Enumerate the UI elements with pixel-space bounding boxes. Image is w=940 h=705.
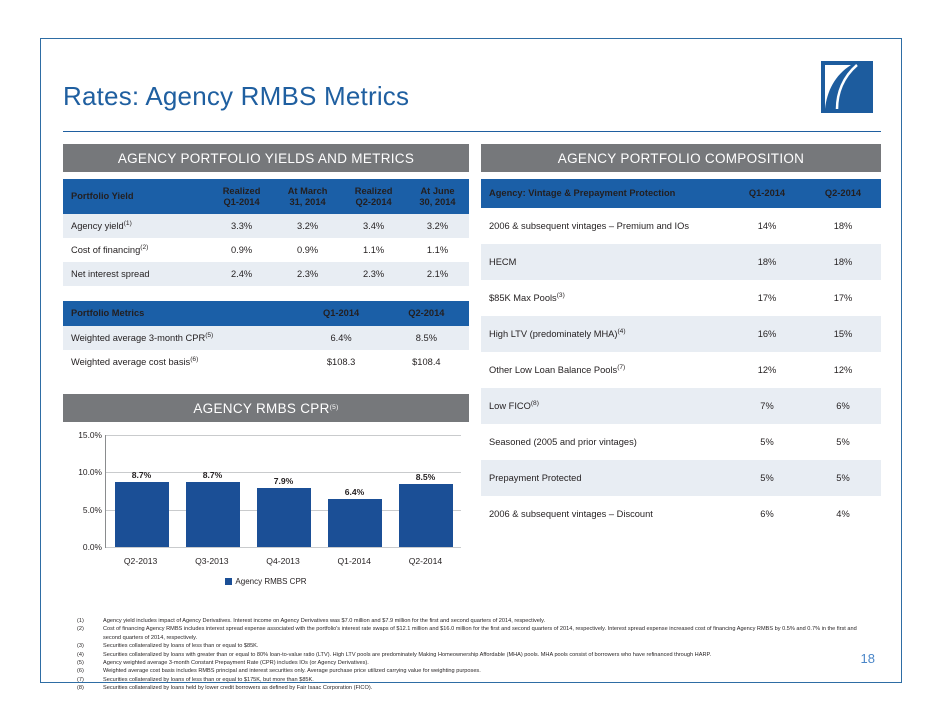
cell-value: 6% — [729, 496, 805, 532]
footnote-item: (2)Cost of financing Agency RMBS include… — [77, 625, 867, 642]
table-row: Net interest spread 2.4% 2.3% 2.3% 2.1% — [63, 262, 469, 286]
logo-swoosh-icon — [821, 61, 873, 113]
page-title: Rates: Agency RMBS Metrics — [63, 81, 409, 112]
y-tick-label: 15.0% — [78, 430, 102, 440]
cell-value: 15% — [805, 316, 881, 352]
col-q1-2014: Q1-2014 — [298, 301, 383, 326]
x-tick-label: Q4-2013 — [247, 556, 318, 566]
company-logo — [821, 61, 873, 113]
legend-swatch-icon — [225, 578, 232, 585]
section-header-cpr: AGENCY RMBS CPR(5) — [63, 394, 469, 422]
composition-table: Agency: Vintage & Prepayment Protection … — [481, 179, 881, 532]
chart-legend: Agency RMBS CPR — [63, 577, 469, 586]
row-label: Weighted average 3-month CPR(5) — [63, 326, 298, 350]
footnote-text: Securities collateralized by loans held … — [103, 684, 867, 692]
cell-value: 5% — [729, 460, 805, 496]
table-row: Weighted average 3-month CPR(5) 6.4% 8.5… — [63, 326, 469, 350]
cell-value: 5% — [805, 424, 881, 460]
table-row: Low FICO(8) 7% 6% — [481, 388, 881, 424]
yields-table-container: Portfolio Yield Realized Q1-2014 At Marc… — [63, 179, 469, 286]
cell-value: $108.3 — [298, 350, 383, 374]
bar: 8.7% — [186, 482, 240, 547]
table-row: High LTV (predominately MHA)(4) 16% 15% — [481, 316, 881, 352]
cell-value: 4% — [805, 496, 881, 532]
x-tick-label: Q3-2013 — [176, 556, 247, 566]
section-header-composition: AGENCY PORTFOLIO COMPOSITION — [481, 144, 881, 172]
cell-value: 5% — [729, 424, 805, 460]
col-q1-2014: Q1-2014 — [729, 179, 805, 208]
y-tick-label: 10.0% — [78, 467, 102, 477]
cell-value: 0.9% — [274, 238, 341, 262]
x-tick-label: Q2-2014 — [390, 556, 461, 566]
x-tick-label: Q2-2013 — [105, 556, 176, 566]
y-tick-label: 0.0% — [83, 542, 102, 552]
footnote-item: (6)Weighted average cost basis includes … — [77, 667, 867, 675]
table-row: 2006 & subsequent vintages – Premium and… — [481, 208, 881, 244]
bar-value-label: 6.4% — [345, 487, 365, 497]
row-label: Cost of financing(2) — [63, 238, 209, 262]
footnote-item: (3)Securities collateralized by loans of… — [77, 642, 867, 650]
table-row: Seasoned (2005 and prior vintages) 5% 5% — [481, 424, 881, 460]
row-label: 2006 & subsequent vintages – Discount — [481, 496, 729, 532]
title-divider — [63, 131, 881, 132]
cell-value: 5% — [805, 460, 881, 496]
row-label: Net interest spread — [63, 262, 209, 286]
row-label: Agency yield(1) — [63, 214, 209, 238]
cell-value: 12% — [805, 352, 881, 388]
col-q2-2014: Q2-2014 — [805, 179, 881, 208]
cell-value: 3.3% — [209, 214, 274, 238]
footnote-text: Agency weighted average 3-month Constant… — [103, 659, 867, 667]
footnote-text: Weighted average cost basis includes RMB… — [103, 667, 867, 675]
footnote-item: (1)Agency yield includes impact of Agenc… — [77, 617, 867, 625]
cell-value: 14% — [729, 208, 805, 244]
cell-value: 17% — [729, 280, 805, 316]
gridline: 0.0% — [106, 547, 461, 548]
cell-value: 16% — [729, 316, 805, 352]
footnote-item: (7)Securities collateralized by loans of… — [77, 676, 867, 684]
cell-value: 2.1% — [406, 262, 469, 286]
bar-value-label: 8.5% — [416, 472, 436, 482]
bar-group: 8.7% — [177, 435, 248, 547]
footnote-number: (7) — [77, 676, 103, 684]
y-tick-label: 5.0% — [83, 505, 102, 515]
cell-value: 18% — [729, 244, 805, 280]
col-at-march: At March 31, 2014 — [274, 179, 341, 214]
cell-value: 1.1% — [341, 238, 406, 262]
table-header-row: Portfolio Yield Realized Q1-2014 At Marc… — [63, 179, 469, 214]
footnote-number: (4) — [77, 651, 103, 659]
bar-group: 8.5% — [390, 435, 461, 547]
row-label: Weighted average cost basis(6) — [63, 350, 298, 374]
cell-value: 18% — [805, 244, 881, 280]
bar: 6.4% — [328, 499, 382, 547]
footnote-number: (2) — [77, 625, 103, 642]
table-row: Other Low Loan Balance Pools(7) 12% 12% — [481, 352, 881, 388]
cell-value: 2.4% — [209, 262, 274, 286]
footnote-number: (6) — [77, 667, 103, 675]
cell-value: 6% — [805, 388, 881, 424]
table-row: Prepayment Protected 5% 5% — [481, 460, 881, 496]
cell-value: 12% — [729, 352, 805, 388]
bar-group: 7.9% — [248, 435, 319, 547]
table-row: Agency yield(1) 3.3% 3.2% 3.4% 3.2% — [63, 214, 469, 238]
cell-value: 3.4% — [341, 214, 406, 238]
footnote-number: (8) — [77, 684, 103, 692]
footnote-text: Securities collateralized by loans of le… — [103, 676, 867, 684]
cell-value: 3.2% — [274, 214, 341, 238]
row-label: 2006 & subsequent vintages – Premium and… — [481, 208, 729, 244]
portfolio-metrics-table: Portfolio Metrics Q1-2014 Q2-2014 Weight… — [63, 301, 469, 374]
row-label: Other Low Loan Balance Pools(7) — [481, 352, 729, 388]
table-header-row: Agency: Vintage & Prepayment Protection … — [481, 179, 881, 208]
legend-label: Agency RMBS CPR — [235, 577, 306, 586]
bar: 8.7% — [115, 482, 169, 547]
col-vintage-prepay: Agency: Vintage & Prepayment Protection — [481, 179, 729, 208]
col-portfolio-metrics: Portfolio Metrics — [63, 301, 298, 326]
bar-value-label: 7.9% — [274, 476, 294, 486]
footnote-number: (3) — [77, 642, 103, 650]
table-row: 2006 & subsequent vintages – Discount 6%… — [481, 496, 881, 532]
table-row: $85K Max Pools(3) 17% 17% — [481, 280, 881, 316]
bar: 8.5% — [399, 484, 453, 547]
cell-value: 2.3% — [274, 262, 341, 286]
footnote-item: (4)Securities collateralized by loans wi… — [77, 651, 867, 659]
section-header-yields: AGENCY PORTFOLIO YIELDS AND METRICS — [63, 144, 469, 172]
col-q2-2014: Q2-2014 — [384, 301, 469, 326]
cell-value: 7% — [729, 388, 805, 424]
cell-value: 8.5% — [384, 326, 469, 350]
footnote-text: Cost of financing Agency RMBS includes i… — [103, 625, 867, 642]
footnote-item: (8)Securities collateralized by loans he… — [77, 684, 867, 692]
composition-table-container: Agency: Vintage & Prepayment Protection … — [481, 179, 881, 532]
col-at-june: At June 30, 2014 — [406, 179, 469, 214]
bar-group: 6.4% — [319, 435, 390, 547]
page-number: 18 — [861, 651, 875, 666]
footnote-text: Securities collateralized by loans with … — [103, 651, 867, 659]
footnote-number: (1) — [77, 617, 103, 625]
chart-x-axis: Q2-2013 Q3-2013 Q4-2013 Q1-2014 Q2-2014 — [105, 556, 461, 566]
portfolio-yield-table: Portfolio Yield Realized Q1-2014 At Marc… — [63, 179, 469, 286]
cell-value: 0.9% — [209, 238, 274, 262]
cell-value: 2.3% — [341, 262, 406, 286]
chart-bars: 8.7% 8.7% 7.9% 6.4% 8.5% — [106, 435, 461, 547]
row-label: Seasoned (2005 and prior vintages) — [481, 424, 729, 460]
cell-value: $108.4 — [384, 350, 469, 374]
bar-value-label: 8.7% — [203, 470, 223, 480]
cell-value: 3.2% — [406, 214, 469, 238]
cell-value: 6.4% — [298, 326, 383, 350]
cell-value: 17% — [805, 280, 881, 316]
col-realized-q1: Realized Q1-2014 — [209, 179, 274, 214]
bar-group: 8.7% — [106, 435, 177, 547]
x-tick-label: Q1-2014 — [319, 556, 390, 566]
col-realized-q2: Realized Q2-2014 — [341, 179, 406, 214]
table-row: HECM 18% 18% — [481, 244, 881, 280]
cell-value: 1.1% — [406, 238, 469, 262]
metrics-table-container: Portfolio Metrics Q1-2014 Q2-2014 Weight… — [63, 301, 469, 374]
footnote-item: (5)Agency weighted average 3-month Const… — [77, 659, 867, 667]
agency-rmbs-cpr-chart: 15.0% 10.0% 5.0% 0.0% 8.7% 8.7% 7.9% 6.4… — [63, 429, 469, 574]
row-label: $85K Max Pools(3) — [481, 280, 729, 316]
bar-value-label: 8.7% — [132, 470, 152, 480]
cell-value: 18% — [805, 208, 881, 244]
table-row: Weighted average cost basis(6) $108.3 $1… — [63, 350, 469, 374]
row-label: HECM — [481, 244, 729, 280]
footnote-text: Securities collateralized by loans of le… — [103, 642, 867, 650]
table-row: Cost of financing(2) 0.9% 0.9% 1.1% 1.1% — [63, 238, 469, 262]
row-label: High LTV (predominately MHA)(4) — [481, 316, 729, 352]
footnotes: (1)Agency yield includes impact of Agenc… — [77, 617, 867, 693]
slide: Rates: Agency RMBS Metrics AGENCY PORTFO… — [40, 38, 902, 683]
row-label: Prepayment Protected — [481, 460, 729, 496]
col-portfolio-yield: Portfolio Yield — [63, 179, 209, 214]
footnote-number: (5) — [77, 659, 103, 667]
bar: 7.9% — [257, 488, 311, 547]
table-header-row: Portfolio Metrics Q1-2014 Q2-2014 — [63, 301, 469, 326]
chart-plot-area: 15.0% 10.0% 5.0% 0.0% 8.7% 8.7% 7.9% 6.4… — [105, 435, 461, 548]
row-label: Low FICO(8) — [481, 388, 729, 424]
footnote-text: Agency yield includes impact of Agency D… — [103, 617, 867, 625]
